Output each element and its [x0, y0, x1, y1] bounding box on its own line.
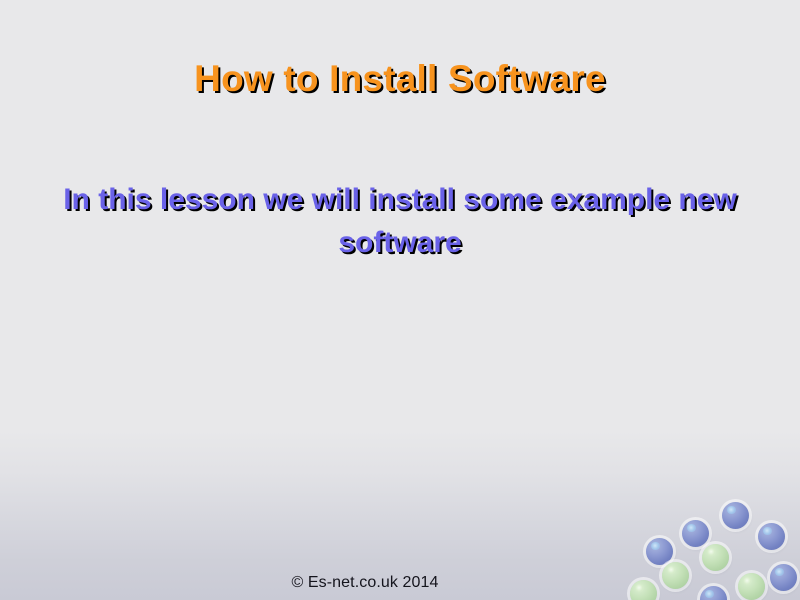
slide-subtitle: In this lesson we will install some exam…	[28, 178, 772, 264]
slide-title: How to Install Software	[0, 58, 800, 100]
presentation-slide: How to Install Software In this lesson w…	[0, 0, 800, 600]
slide-footer-copyright: © Es-net.co.uk 2014	[0, 574, 730, 592]
